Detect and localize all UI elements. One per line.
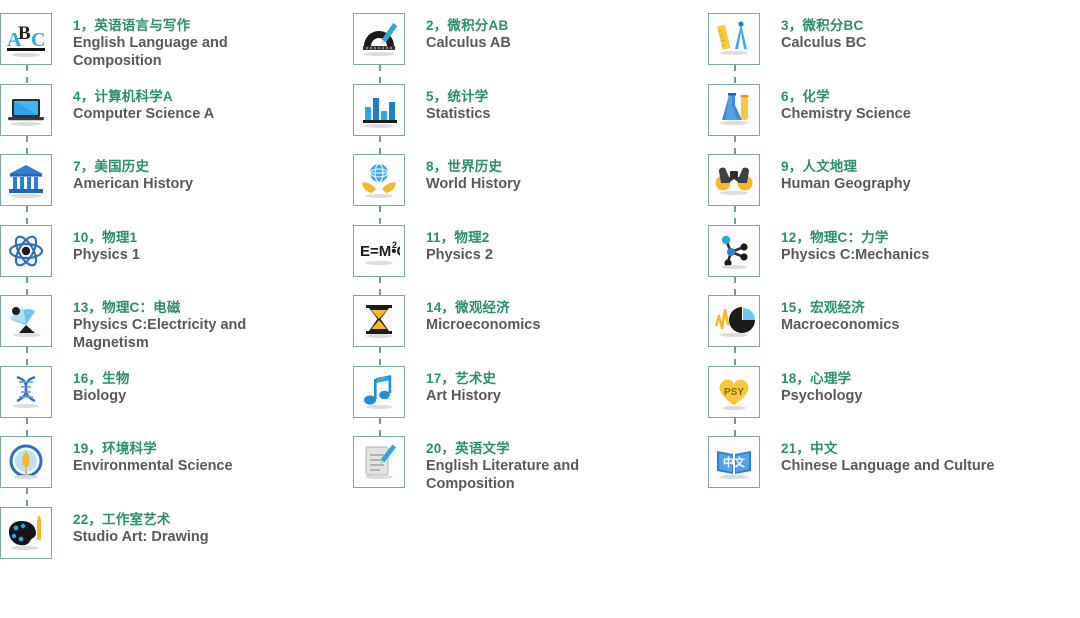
dotted-connector (734, 277, 736, 295)
svg-text:PSY: PSY (724, 387, 744, 398)
course-row[interactable]: 2，微积分ABCalculus AB (353, 13, 511, 83)
course-icon-wrap: E=M•C2 (353, 225, 407, 277)
music-note-icon[interactable] (353, 366, 405, 418)
course-title-cn: 11，物理2 (426, 229, 493, 246)
course-title-en: Computer Science A (73, 106, 214, 124)
course-icon-wrap (353, 154, 407, 206)
globe-in-hands-icon[interactable] (353, 154, 405, 206)
dotted-connector (26, 277, 28, 295)
course-title-cn: 6，化学 (781, 88, 911, 105)
dotted-connector (379, 418, 381, 436)
course-row[interactable]: ABC1，英语语言与写作English Language and Composi… (0, 13, 288, 83)
course-row[interactable]: 4，计算机科学AComputer Science A (0, 84, 214, 154)
course-title-en: Chemistry Science (781, 106, 911, 124)
course-row[interactable]: 8，世界历史World History (353, 154, 521, 224)
atom-icon[interactable] (0, 225, 52, 277)
course-labels: 11，物理2Physics 2 (407, 225, 493, 265)
course-row[interactable]: 14，微观经济Microeconomics (353, 295, 540, 365)
course-labels: 18，心理学Psychology (762, 366, 862, 406)
course-title-cn: 9，人文地理 (781, 158, 911, 175)
course-icon-wrap (353, 295, 407, 347)
course-labels: 22，工作室艺术Studio Art: Drawing (54, 507, 209, 547)
course-icon-wrap (708, 154, 762, 206)
course-icon-wrap: 中文 (708, 436, 762, 488)
course-title-cn: 20，英语文学 (426, 440, 641, 457)
course-icon-wrap (353, 366, 407, 418)
satellite-dish-icon[interactable] (0, 295, 52, 347)
dotted-connector (26, 206, 28, 224)
course-title-en: Physics 2 (426, 247, 493, 265)
psy-heart-icon[interactable]: PSY (708, 366, 760, 418)
open-book-chinese-icon[interactable]: 中文 (708, 436, 760, 488)
course-title-cn: 10，物理1 (73, 229, 140, 246)
course-title-en: Macroeconomics (781, 317, 899, 335)
paint-palette-icon[interactable] (0, 507, 52, 559)
course-labels: 20，英语文学English Literature and Compositio… (407, 436, 641, 493)
course-labels: 9，人文地理Human Geography (762, 154, 911, 194)
course-labels: 1，英语语言与写作English Language and Compositio… (54, 13, 288, 70)
course-row[interactable]: 3，微积分BCCalculus BC (708, 13, 866, 83)
course-title-en: Biology (73, 388, 130, 406)
course-title-en: Physics C:Mechanics (781, 247, 929, 265)
dotted-connector (26, 347, 28, 365)
course-title-en: Physics C:Electricity and Magnetism (73, 317, 288, 352)
course-icon-wrap (0, 225, 54, 277)
course-icon-wrap (0, 366, 54, 418)
course-icon-wrap (0, 436, 54, 488)
svg-text:2: 2 (392, 240, 397, 250)
course-labels: 4，计算机科学AComputer Science A (54, 84, 214, 124)
course-title-cn: 22，工作室艺术 (73, 511, 209, 528)
dotted-connector (379, 136, 381, 154)
document-pen-icon[interactable] (353, 436, 405, 488)
course-labels: 21，中文Chinese Language and Culture (762, 436, 995, 476)
chart-pie-wave-icon[interactable] (708, 295, 760, 347)
course-labels: 14，微观经济Microeconomics (407, 295, 540, 335)
course-row[interactable]: E=M•C211，物理2Physics 2 (353, 225, 493, 295)
course-title-cn: 1，英语语言与写作 (73, 17, 288, 34)
course-row[interactable]: PSY18，心理学Psychology (708, 366, 862, 436)
dotted-connector (734, 206, 736, 224)
svg-text:B: B (18, 23, 31, 44)
course-title-en: Environmental Science (73, 458, 233, 476)
dotted-connector (734, 136, 736, 154)
course-icon-wrap: PSY (708, 366, 762, 418)
course-title-en: Calculus AB (426, 35, 511, 53)
dotted-connector (379, 65, 381, 83)
dotted-connector (26, 65, 28, 83)
molecule-icon[interactable] (708, 225, 760, 277)
course-icon-wrap: ABC (0, 13, 54, 65)
course-row[interactable]: 22，工作室艺术Studio Art: Drawing (0, 507, 209, 577)
course-title-en: Art History (426, 388, 501, 406)
course-row[interactable]: 15，宏观经济Macroeconomics (708, 295, 899, 365)
protractor-pencil-icon[interactable] (353, 13, 405, 65)
course-title-cn: 21，中文 (781, 440, 995, 457)
course-title-cn: 5，统计学 (426, 88, 490, 105)
ruler-compass-icon[interactable] (708, 13, 760, 65)
course-row[interactable]: 19，环境科学Environmental Science (0, 436, 233, 506)
course-row[interactable]: 6，化学Chemistry Science (708, 84, 911, 154)
svg-text:C: C (31, 29, 45, 51)
abc-letters-icon[interactable]: ABC (0, 13, 52, 65)
course-icon-wrap (708, 295, 762, 347)
course-icon-wrap (0, 154, 54, 206)
course-labels: 7，美国历史American History (54, 154, 193, 194)
course-labels: 2，微积分ABCalculus AB (407, 13, 511, 53)
dotted-connector (26, 418, 28, 436)
course-icon-wrap (353, 13, 407, 65)
dotted-connector (734, 347, 736, 365)
course-title-en: Physics 1 (73, 247, 140, 265)
course-row[interactable]: 5，统计学Statistics (353, 84, 490, 154)
dotted-connector (26, 136, 28, 154)
course-title-cn: 12，物理C：力学 (781, 229, 929, 246)
course-title-cn: 17，艺术史 (426, 370, 501, 387)
dotted-connector (379, 277, 381, 295)
dotted-connector (379, 347, 381, 365)
course-labels: 13，物理C：电磁Physics C:Electricity and Magne… (54, 295, 288, 352)
course-icon-wrap (708, 84, 762, 136)
course-title-en: Human Geography (781, 176, 911, 194)
course-title-cn: 8，世界历史 (426, 158, 521, 175)
course-title-cn: 4，计算机科学A (73, 88, 214, 105)
emc2-formula-icon[interactable]: E=M•C2 (353, 225, 405, 277)
course-title-cn: 18，心理学 (781, 370, 862, 387)
course-labels: 12，物理C：力学Physics C:Mechanics (762, 225, 929, 265)
course-labels: 5，统计学Statistics (407, 84, 490, 124)
binoculars-icon[interactable] (708, 154, 760, 206)
course-title-en: Statistics (426, 106, 490, 124)
laptop-icon[interactable] (0, 84, 52, 136)
course-title-cn: 15，宏观经济 (781, 299, 899, 316)
course-row[interactable]: 17，艺术史Art History (353, 366, 501, 436)
course-labels: 15，宏观经济Macroeconomics (762, 295, 899, 335)
dotted-connector (734, 65, 736, 83)
course-icon-wrap (353, 84, 407, 136)
course-icon-wrap (0, 507, 54, 559)
course-icon-wrap (708, 225, 762, 277)
dotted-connector (734, 418, 736, 436)
classical-bank-building-icon[interactable] (0, 154, 52, 206)
bar-chart-icon[interactable] (353, 84, 405, 136)
course-icon-wrap (0, 295, 54, 347)
dotted-connector (379, 206, 381, 224)
course-title-cn: 2，微积分AB (426, 17, 511, 34)
course-title-cn: 16，生物 (73, 370, 130, 387)
course-row[interactable]: 12，物理C：力学Physics C:Mechanics (708, 225, 929, 295)
course-title-en: American History (73, 176, 193, 194)
hourglass-icon[interactable] (353, 295, 405, 347)
course-labels: 19，环境科学Environmental Science (54, 436, 233, 476)
course-title-cn: 7，美国历史 (73, 158, 193, 175)
flask-test-tube-icon[interactable] (708, 84, 760, 136)
course-labels: 16，生物Biology (54, 366, 130, 406)
course-row[interactable]: 7，美国历史American History (0, 154, 193, 224)
course-row[interactable]: 13，物理C：电磁Physics C:Electricity and Magne… (0, 295, 288, 365)
course-labels: 10，物理1Physics 1 (54, 225, 140, 265)
course-row[interactable]: 20，英语文学English Literature and Compositio… (353, 436, 641, 506)
course-row[interactable]: 9，人文地理Human Geography (708, 154, 911, 224)
course-title-en: Studio Art: Drawing (73, 529, 209, 547)
course-icon-wrap (708, 13, 762, 65)
course-labels: 3，微积分BCCalculus BC (762, 13, 866, 53)
courses-infographic: ABC1，英语语言与写作English Language and Composi… (0, 0, 1080, 618)
course-labels: 6，化学Chemistry Science (762, 84, 911, 124)
course-title-en: English Language and Composition (73, 35, 288, 70)
dna-helix-icon[interactable] (0, 366, 52, 418)
course-title-en: Psychology (781, 388, 862, 406)
course-title-en: Microeconomics (426, 317, 540, 335)
course-title-cn: 19，环境科学 (73, 440, 233, 457)
course-icon-wrap (353, 436, 407, 488)
water-drop-globe-icon[interactable] (0, 436, 52, 488)
course-labels: 17，艺术史Art History (407, 366, 501, 406)
course-icon-wrap (0, 84, 54, 136)
svg-text:中文: 中文 (723, 455, 746, 469)
dotted-connector (26, 488, 28, 506)
course-title-cn: 14，微观经济 (426, 299, 540, 316)
course-labels: 8，世界历史World History (407, 154, 521, 194)
course-title-en: English Literature and Composition (426, 458, 641, 493)
course-row[interactable]: 10，物理1Physics 1 (0, 225, 140, 295)
course-title-en: World History (426, 176, 521, 194)
course-title-en: Chinese Language and Culture (781, 458, 995, 476)
course-title-en: Calculus BC (781, 35, 866, 53)
course-row[interactable]: 中文21，中文Chinese Language and Culture (708, 436, 995, 506)
course-title-cn: 13，物理C：电磁 (73, 299, 288, 316)
course-row[interactable]: 16，生物Biology (0, 366, 130, 436)
course-title-cn: 3，微积分BC (781, 17, 866, 34)
